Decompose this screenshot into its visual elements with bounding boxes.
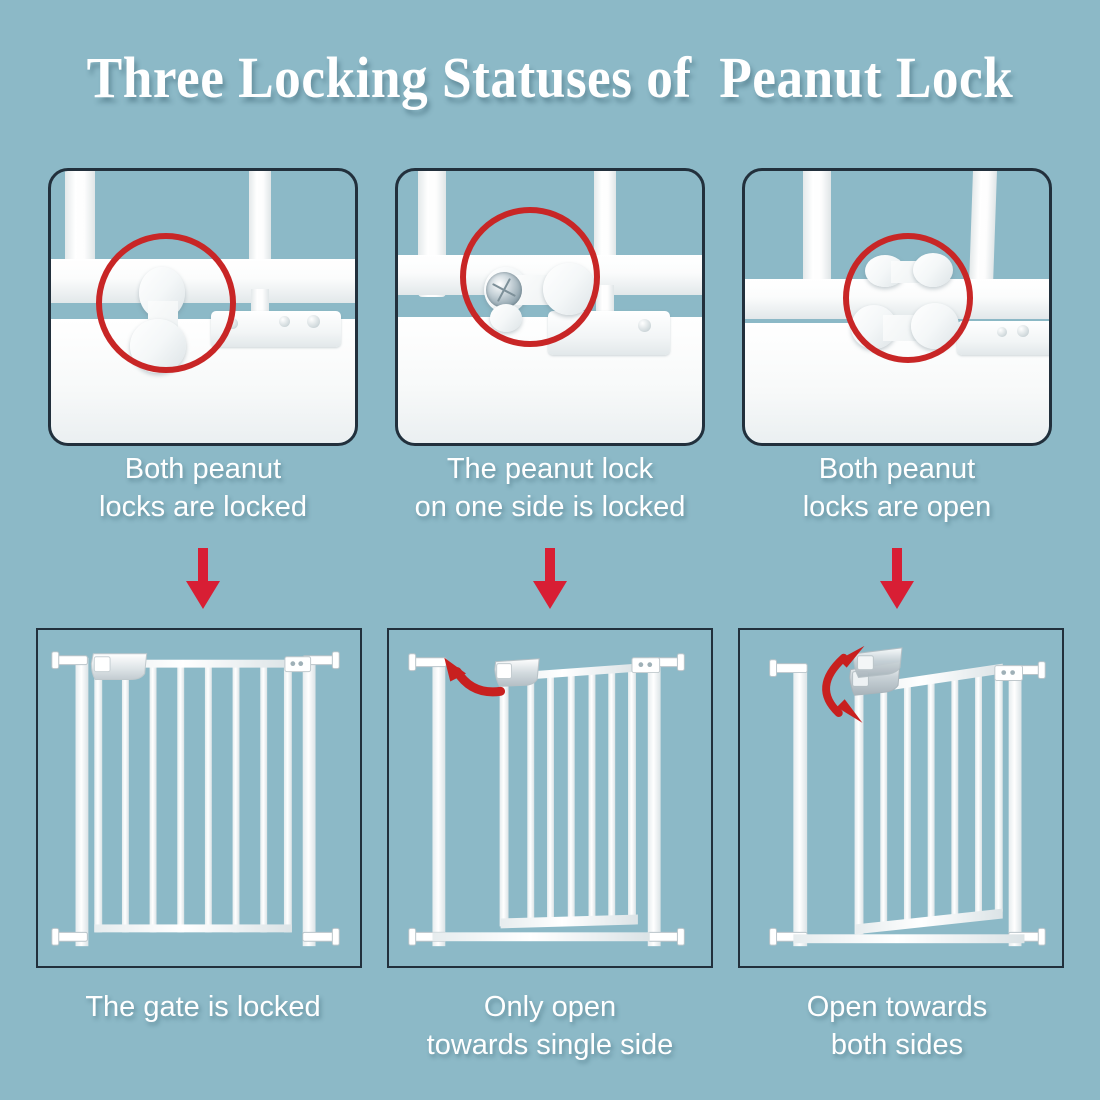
gate-catch-block — [957, 321, 1049, 355]
gate-bottom-rail — [94, 924, 292, 932]
arrow-cell-3 — [742, 548, 1052, 618]
lock-photo-3 — [745, 171, 1049, 443]
gate-panel-locked — [36, 628, 362, 968]
gate-diagram-both-sides — [740, 630, 1062, 966]
curved-arrow-single-icon — [444, 658, 500, 692]
lock-caption-both-open: Both peanut locks are open — [742, 450, 1052, 526]
arrow-cell-1 — [48, 548, 358, 618]
lock-caption-both-locked: Both peanut locks are locked — [48, 450, 358, 526]
gate-post-right — [594, 171, 616, 267]
gate-panel-both-sides — [738, 628, 1064, 968]
gate-striker-block — [632, 658, 660, 673]
lock-photo-panel-one-side-locked — [395, 168, 705, 446]
lock-caption-one-side-locked: The peanut lock on one side is locked — [395, 450, 705, 526]
catch-screw-2 — [279, 316, 290, 327]
gate-panel-single-side — [387, 628, 713, 968]
gate-frame-posts — [76, 658, 316, 946]
gate-door-open-both — [855, 664, 1003, 935]
lock-photo-row — [48, 168, 1052, 446]
gate-frame-posts — [432, 660, 660, 946]
gate-door-open-single — [500, 664, 638, 929]
arrow-cell-2 — [395, 548, 705, 618]
gate-latch-handle — [850, 648, 902, 695]
gate-door-bars — [94, 664, 292, 933]
gate-floor-rail — [432, 932, 649, 941]
highlight-circle-icon — [460, 207, 600, 347]
gate-caption-both-sides: Open towards both sides — [742, 988, 1052, 1064]
arrow-row — [48, 548, 1052, 618]
gate-post-left — [803, 171, 831, 295]
lock-caption-row: Both peanut locks are locked The peanut … — [48, 450, 1052, 526]
catch-screw-3 — [307, 315, 320, 328]
gate-post-right — [249, 171, 271, 267]
gate-post-right — [969, 171, 997, 289]
pressure-mounts — [409, 654, 685, 945]
lock-photo-panel-both-locked — [48, 168, 358, 446]
lock-photo-panel-both-open — [742, 168, 1052, 446]
arrow-down-icon — [180, 548, 226, 610]
gate-door-bottom-rail — [501, 915, 638, 929]
highlight-circle-icon — [843, 233, 973, 363]
gate-caption-row: The gate is locked Only open towards sin… — [48, 988, 1052, 1064]
catch-screw-1 — [997, 327, 1007, 337]
arrow-down-icon — [874, 548, 920, 610]
gate-striker-block — [995, 666, 1023, 681]
arrow-down-icon — [527, 548, 573, 610]
gate-striker-block — [285, 657, 311, 672]
gate-latch-handle — [495, 659, 539, 687]
gate-latch-handle — [91, 654, 146, 680]
catch-screw-2 — [1017, 325, 1029, 337]
gate-diagram-single-side — [389, 630, 711, 966]
lock-photo-1 — [51, 171, 355, 443]
page-title: Three Locking Statuses of Peanut Lock — [44, 44, 1056, 111]
gate-diagram-locked — [38, 630, 360, 966]
catch-screw-1 — [638, 319, 651, 332]
gate-floor-rail — [793, 934, 1024, 943]
gate-caption-locked: The gate is locked — [48, 988, 358, 1064]
gate-caption-single-side: Only open towards single side — [395, 988, 705, 1064]
highlight-circle-icon — [96, 233, 236, 373]
gate-diagram-row — [36, 628, 1064, 968]
lock-photo-2 — [398, 171, 702, 443]
